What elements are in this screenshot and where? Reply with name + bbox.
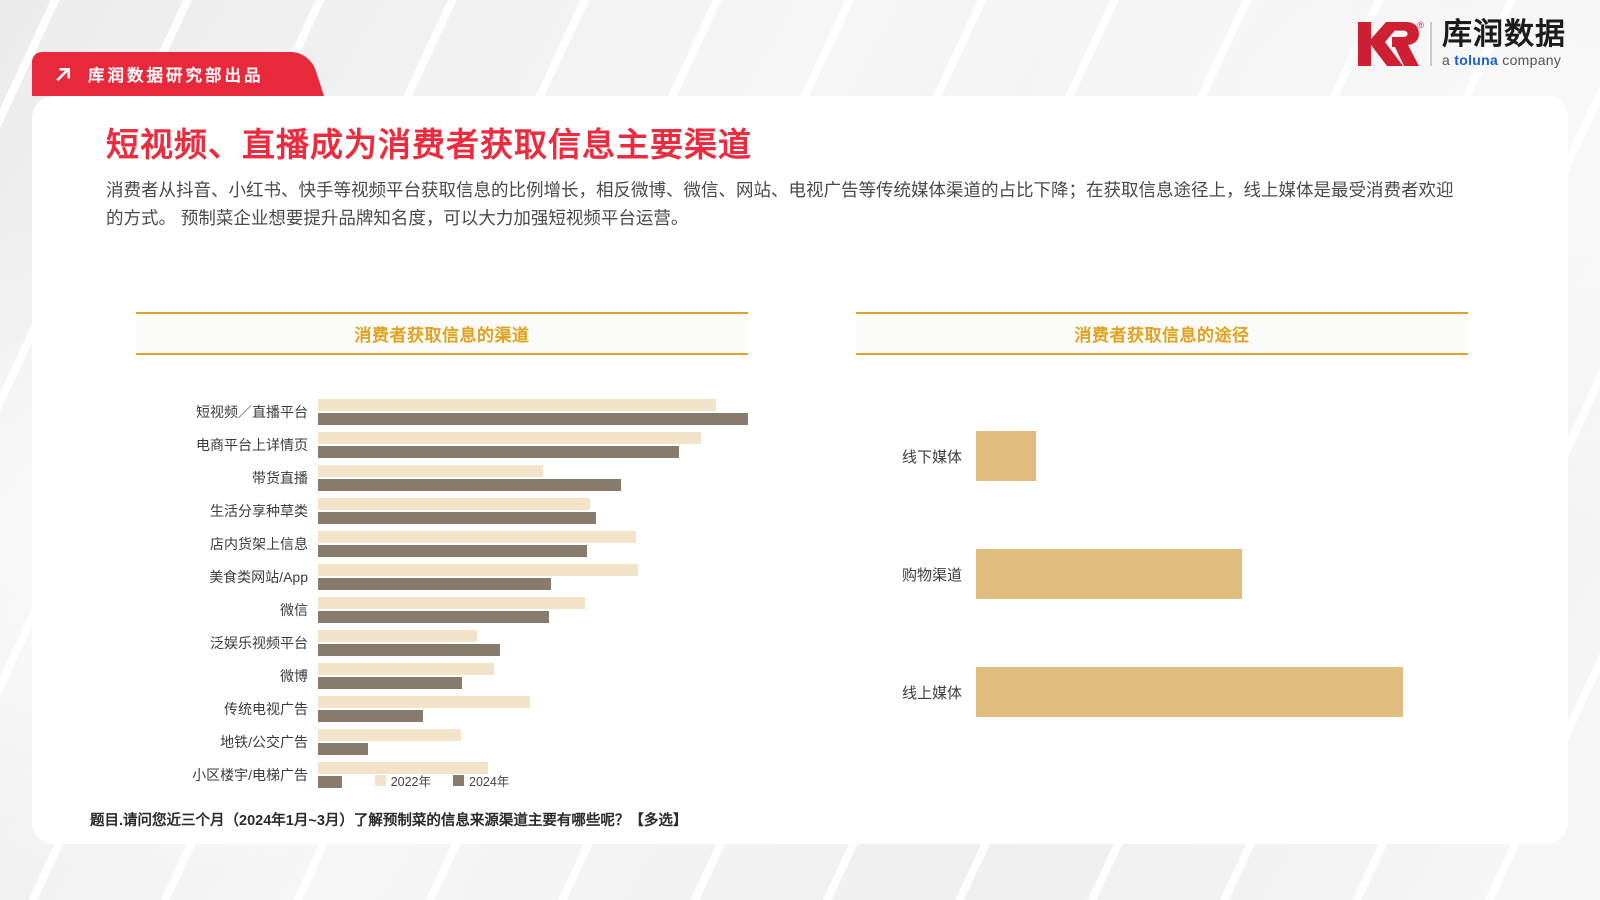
bar-segment-2022年 (318, 531, 636, 543)
bar-segment-2022年 (318, 729, 461, 741)
bar-segment-购物渠道 (976, 549, 1242, 599)
department-ribbon: 库润数据研究部出品 (32, 52, 298, 96)
registered-mark: ® (1417, 20, 1424, 30)
grouped-bar-category-label: 电商平台上详情页 (136, 435, 318, 455)
grouped-bar-track (318, 596, 748, 624)
single-bar-category-label: 线上媒体 (856, 682, 976, 703)
grouped-bar-category-label: 地铁/公交广告 (136, 732, 318, 752)
grouped-bar-track (318, 695, 748, 723)
bar-segment-2022年 (318, 663, 494, 675)
bar-segment-2022年 (318, 696, 530, 708)
single-bar-rows: 线下媒体购物渠道线上媒体 (856, 397, 1468, 751)
grouped-bar-row: 泛娱乐视频平台 (136, 628, 748, 658)
grouped-bar-row: 地铁/公交广告 (136, 727, 748, 757)
bar-segment-2022年 (318, 432, 701, 444)
panel-left-title: 消费者获取信息的渠道 (355, 321, 530, 346)
chart-legend: 2022年2024年 (136, 771, 748, 790)
legend-swatch-icon (375, 775, 386, 786)
slide-card: 短视频、直播成为消费者获取信息主要渠道 消费者从抖音、小红书、快手等视频平台获取… (32, 96, 1568, 844)
grouped-bar-category-label: 短视频／直播平台 (136, 402, 318, 422)
page-title: 短视频、直播成为消费者获取信息主要渠道 (106, 118, 752, 166)
single-bar-row: 购物渠道 (856, 515, 1468, 633)
grouped-bar-category-label: 店内货架上信息 (136, 534, 318, 554)
bar-segment-2024年 (318, 743, 368, 755)
single-bar-category-label: 购物渠道 (856, 564, 976, 585)
single-bar-track (976, 667, 1468, 717)
single-bar-row: 线下媒体 (856, 397, 1468, 515)
logo-tagline-brand: toluna (1454, 52, 1498, 68)
single-bar-track (976, 549, 1468, 599)
bar-segment-2024年 (318, 545, 587, 557)
grouped-bar-track (318, 431, 748, 459)
grouped-bar-track (318, 629, 748, 657)
single-bar-chart: 线下媒体购物渠道线上媒体 (856, 397, 1468, 797)
grouped-bar-category-label: 微博 (136, 666, 318, 686)
bar-segment-2022年 (318, 399, 716, 411)
bar-segment-2022年 (318, 630, 477, 642)
panel-right-header: 消费者获取信息的途径 (856, 312, 1468, 355)
bar-segment-2022年 (318, 465, 543, 477)
bar-segment-2024年 (318, 446, 679, 458)
grouped-bar-track (318, 398, 748, 426)
legend-item[interactable]: 2022年 (375, 771, 431, 790)
logo-wordmark: 库润数据 a toluna company (1442, 20, 1566, 68)
bar-segment-2022年 (318, 597, 585, 609)
grouped-bar-category-label: 微信 (136, 600, 318, 620)
grouped-bar-track (318, 464, 748, 492)
grouped-bar-row: 店内货架上信息 (136, 529, 748, 559)
panel-right-title: 消费者获取信息的途径 (1075, 321, 1250, 346)
grouped-bar-row: 带货直播 (136, 463, 748, 493)
bar-segment-2024年 (318, 644, 500, 656)
bar-segment-2024年 (318, 578, 551, 590)
grouped-bar-row: 生活分享种草类 (136, 496, 748, 526)
grouped-bar-category-label: 带货直播 (136, 468, 318, 488)
legend-item[interactable]: 2024年 (453, 771, 509, 790)
logo-tagline: a toluna company (1442, 52, 1566, 68)
grouped-bar-chart: 短视频／直播平台电商平台上详情页带货直播生活分享种草类店内货架上信息美食类网站/… (136, 397, 748, 797)
bar-segment-2024年 (318, 512, 596, 524)
grouped-bar-category-label: 生活分享种草类 (136, 501, 318, 521)
bar-segment-2022年 (318, 498, 590, 510)
legend-label: 2022年 (391, 771, 431, 790)
grouped-bar-row: 短视频／直播平台 (136, 397, 748, 427)
grouped-bar-track (318, 728, 748, 756)
single-bar-category-label: 线下媒体 (856, 446, 976, 467)
arrow-up-right-icon (54, 64, 74, 84)
summary-paragraph: 消费者从抖音、小红书、快手等视频平台获取信息的比例增长，相反微博、微信、网站、电… (106, 176, 1466, 233)
ribbon-label: 库润数据研究部出品 (88, 62, 264, 86)
logo-tagline-prefix: a (1442, 52, 1454, 68)
grouped-bar-rows: 短视频／直播平台电商平台上详情页带货直播生活分享种草类店内货架上信息美食类网站/… (136, 397, 748, 790)
legend-swatch-icon (453, 775, 464, 786)
bar-segment-线下媒体 (976, 431, 1036, 481)
grouped-bar-row: 电商平台上详情页 (136, 430, 748, 460)
panel-left-header: 消费者获取信息的渠道 (136, 312, 748, 355)
question-footnote: 题目.请问您近三个月（2024年1月~3月）了解预制菜的信息来源渠道主要有哪些呢… (90, 809, 687, 830)
panel-information-pathways: 消费者获取信息的途径 线下媒体购物渠道线上媒体 (856, 312, 1468, 797)
bar-segment-线上媒体 (976, 667, 1403, 717)
grouped-bar-category-label: 传统电视广告 (136, 699, 318, 719)
legend-label: 2024年 (469, 771, 509, 790)
logo-tagline-suffix: company (1498, 52, 1561, 68)
bar-segment-2024年 (318, 413, 748, 425)
grouped-bar-row: 微信 (136, 595, 748, 625)
grouped-bar-row: 美食类网站/App (136, 562, 748, 592)
kr-monogram-icon: ® (1356, 18, 1420, 70)
bar-segment-2024年 (318, 611, 549, 623)
bar-segment-2024年 (318, 479, 621, 491)
logo-chinese-name: 库润数据 (1442, 20, 1566, 50)
grouped-bar-track (318, 530, 748, 558)
single-bar-track (976, 431, 1468, 481)
grouped-bar-track (318, 662, 748, 690)
grouped-bar-track (318, 563, 748, 591)
grouped-bar-category-label: 美食类网站/App (136, 567, 318, 587)
company-logo: ® 库润数据 a toluna company (1356, 18, 1566, 70)
grouped-bar-track (318, 497, 748, 525)
grouped-bar-row: 微博 (136, 661, 748, 691)
bar-segment-2024年 (318, 710, 423, 722)
bar-segment-2022年 (318, 564, 638, 576)
single-bar-row: 线上媒体 (856, 633, 1468, 751)
grouped-bar-row: 传统电视广告 (136, 694, 748, 724)
bar-segment-2024年 (318, 677, 462, 689)
logo-divider (1430, 22, 1432, 66)
panel-information-channels: 消费者获取信息的渠道 短视频／直播平台电商平台上详情页带货直播生活分享种草类店内… (136, 312, 748, 797)
grouped-bar-category-label: 泛娱乐视频平台 (136, 633, 318, 653)
